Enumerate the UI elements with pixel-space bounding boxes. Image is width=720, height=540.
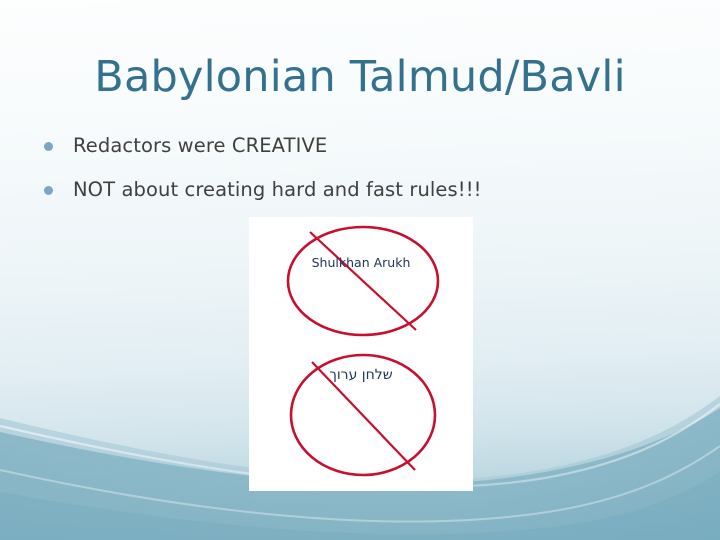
slide-image-panel: Shulkhan Arukh שלחן ערוך	[249, 217, 473, 491]
no-symbol-slash-latin	[310, 232, 416, 330]
bullet-dot-icon	[44, 186, 53, 195]
no-symbol-slash-hebrew	[312, 362, 415, 470]
bullet-list: Redactors were CREATIVE NOT about creati…	[44, 133, 684, 222]
bullet-text: Redactors were CREATIVE	[73, 133, 327, 159]
bullet-dot-icon	[44, 142, 53, 151]
prohibition-signs-graphic	[249, 217, 473, 491]
bullet-text: NOT about creating hard and fast rules!!…	[73, 177, 482, 203]
list-item: Redactors were CREATIVE	[44, 133, 684, 159]
page-title: Babylonian Talmud/Bavli	[0, 52, 720, 102]
list-item: NOT about creating hard and fast rules!!…	[44, 177, 684, 203]
slide: Babylonian Talmud/Bavli Redactors were C…	[0, 0, 720, 540]
